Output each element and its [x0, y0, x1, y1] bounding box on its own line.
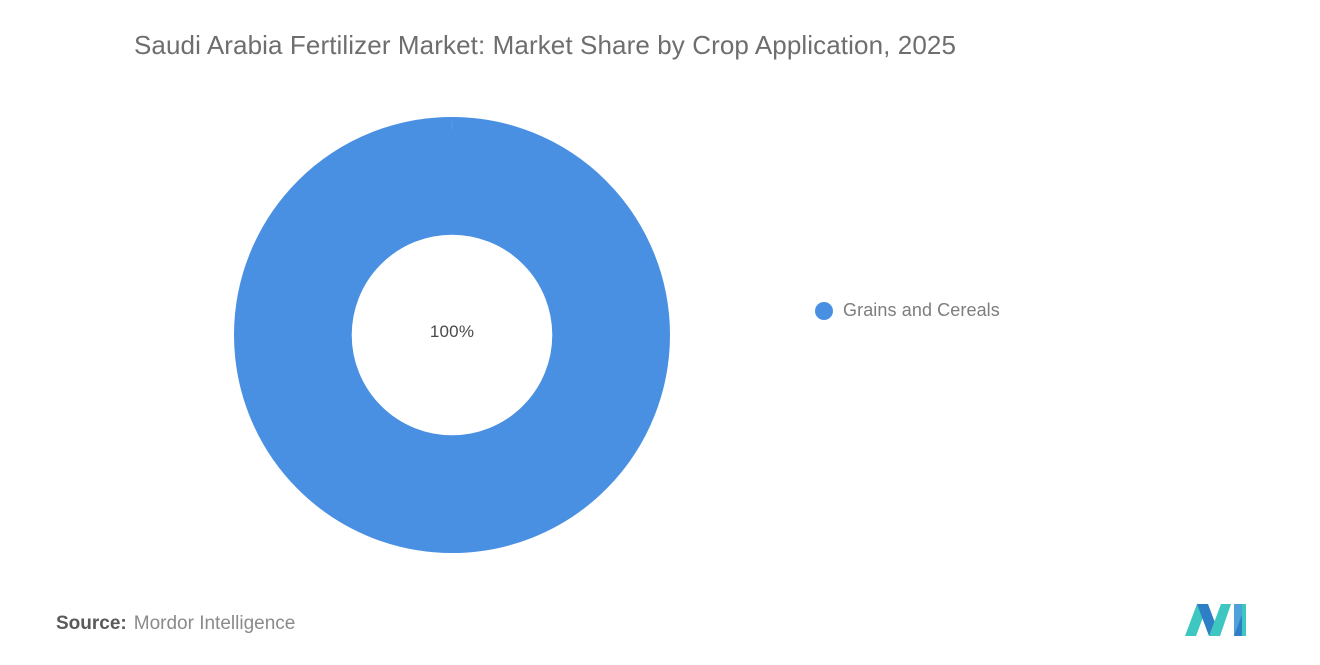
source-label: Source:	[56, 613, 127, 634]
source-attribution: Source:Mordor Intelligence	[56, 613, 295, 635]
source-value: Mordor Intelligence	[134, 613, 296, 634]
chart-legend: Grains and Cereals	[815, 300, 1000, 321]
legend-swatch-icon	[815, 302, 833, 320]
legend-item-grains-and-cereals[interactable]: Grains and Cereals	[815, 300, 1000, 321]
donut-center-label: 100%	[352, 322, 552, 342]
logo-svg	[1184, 600, 1252, 640]
donut-chart-plot-area: 100% Grains and Cereals	[0, 0, 1320, 665]
mordor-intelligence-logo-icon	[1184, 600, 1252, 640]
logo-i-bar-edge	[1242, 604, 1246, 636]
donut-slice-grains-and-cereals[interactable]	[293, 121, 611, 494]
legend-item-label: Grains and Cereals	[843, 300, 1000, 321]
